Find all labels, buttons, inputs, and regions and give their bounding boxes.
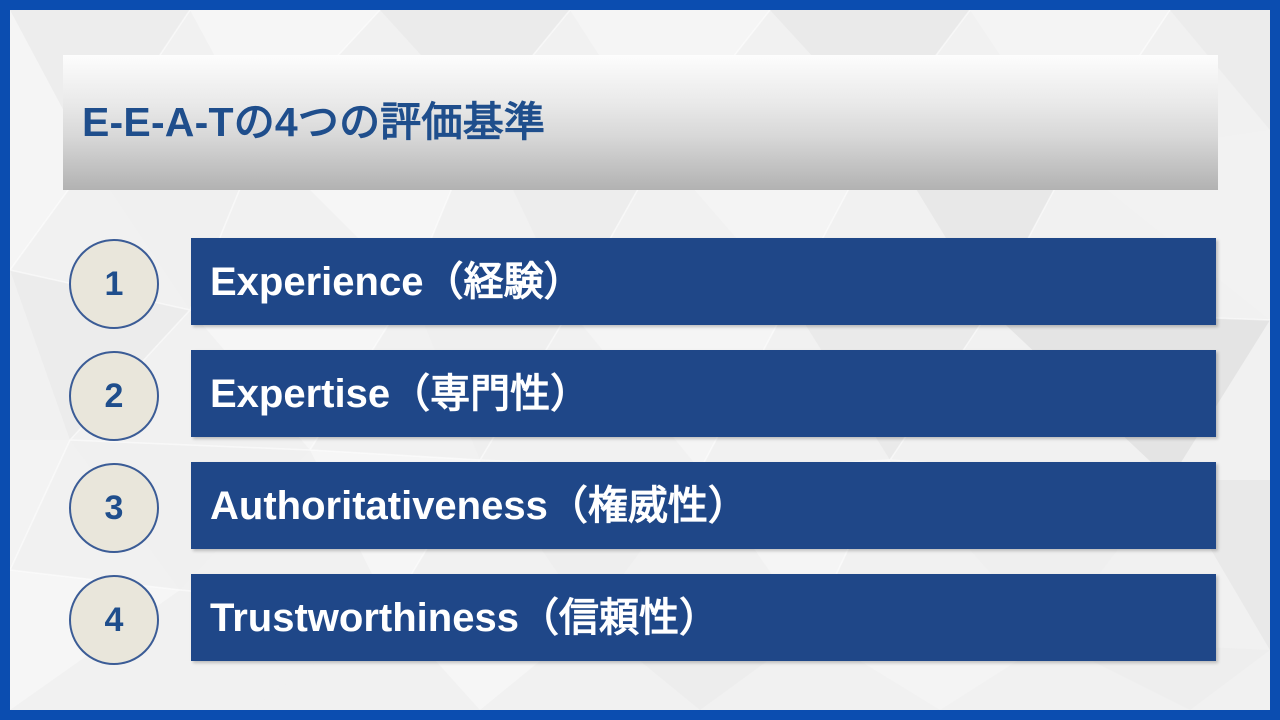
slide-canvas: E-E-A-Tの4つの評価基準 1 Experience（経験） 2 Exper… — [10, 10, 1270, 710]
slide-frame: E-E-A-Tの4つの評価基準 1 Experience（経験） 2 Exper… — [0, 0, 1280, 720]
list-item-bar[interactable]: Trustworthiness（信頼性） — [191, 574, 1216, 661]
list-item-number-badge: 3 — [69, 463, 159, 553]
list-item-bar[interactable]: Expertise（専門性） — [191, 350, 1216, 437]
list-item-number-badge: 4 — [69, 575, 159, 665]
list-item-bar[interactable]: Authoritativeness（権威性） — [191, 462, 1216, 549]
list-item-number-badge: 2 — [69, 351, 159, 441]
title-banner: E-E-A-Tの4つの評価基準 — [63, 55, 1218, 190]
list-item-label: Expertise（専門性） — [210, 373, 590, 415]
list-item[interactable]: 3 Authoritativeness（権威性） — [10, 462, 1270, 574]
list-item-number-badge: 1 — [69, 239, 159, 329]
list-item[interactable]: 1 Experience（経験） — [10, 238, 1270, 350]
list-item[interactable]: 4 Trustworthiness（信頼性） — [10, 574, 1270, 686]
criteria-list: 1 Experience（経験） 2 Expertise（専門性） 3 Auth… — [10, 238, 1270, 686]
page-title: E-E-A-Tの4つの評価基準 — [82, 100, 545, 145]
list-item-label: Authoritativeness（権威性） — [210, 485, 748, 527]
list-item-label: Experience（経験） — [210, 261, 583, 303]
list-item-label: Trustworthiness（信頼性） — [210, 597, 719, 639]
list-item-bar[interactable]: Experience（経験） — [191, 238, 1216, 325]
list-item[interactable]: 2 Expertise（専門性） — [10, 350, 1270, 462]
